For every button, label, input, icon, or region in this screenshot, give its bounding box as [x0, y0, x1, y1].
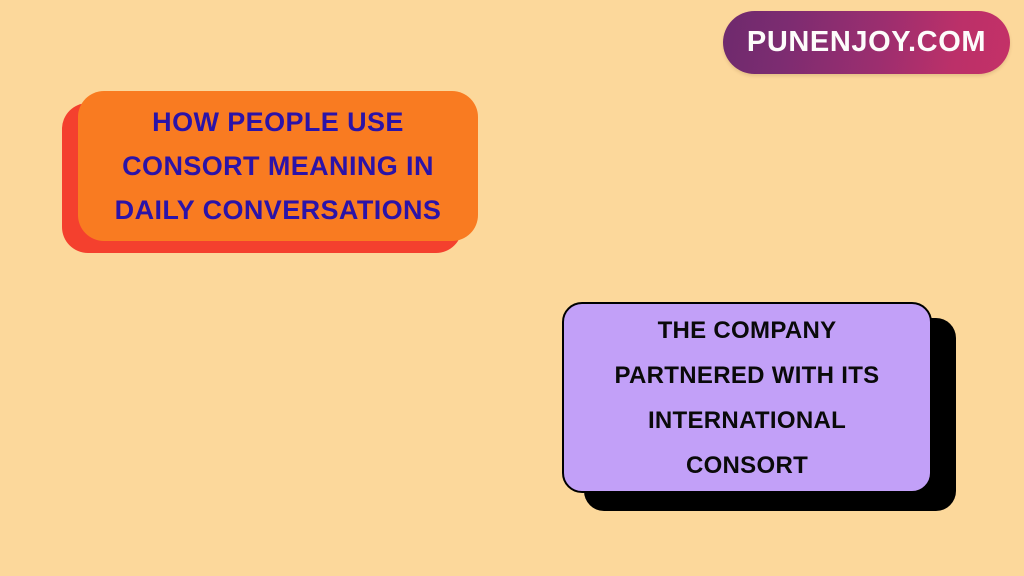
orange-card-line-3: DAILY CONVERSATIONS: [115, 188, 442, 232]
watermark-label: PUNENJOY.COM: [747, 28, 986, 57]
orange-card-line-1: HOW PEOPLE USE: [152, 100, 404, 144]
purple-example-card: THE COMPANY PARTNERED WITH ITS INTERNATI…: [562, 302, 956, 511]
purple-card-body: THE COMPANY PARTNERED WITH ITS INTERNATI…: [562, 302, 932, 493]
slide-canvas: PUNENJOY.COM HOW PEOPLE USE CONSORT MEAN…: [0, 0, 1024, 576]
orange-headline-card: HOW PEOPLE USE CONSORT MEANING IN DAILY …: [62, 91, 478, 253]
purple-card-line-1: THE COMPANY: [658, 308, 837, 353]
purple-card-line-3: INTERNATIONAL: [648, 398, 846, 443]
purple-card-line-2: PARTNERED WITH ITS: [615, 353, 880, 398]
purple-card-line-4: CONSORT: [686, 443, 808, 488]
orange-card-line-2: CONSORT MEANING IN: [122, 144, 434, 188]
watermark-badge[interactable]: PUNENJOY.COM: [723, 11, 1010, 74]
orange-card-body: HOW PEOPLE USE CONSORT MEANING IN DAILY …: [78, 91, 478, 241]
